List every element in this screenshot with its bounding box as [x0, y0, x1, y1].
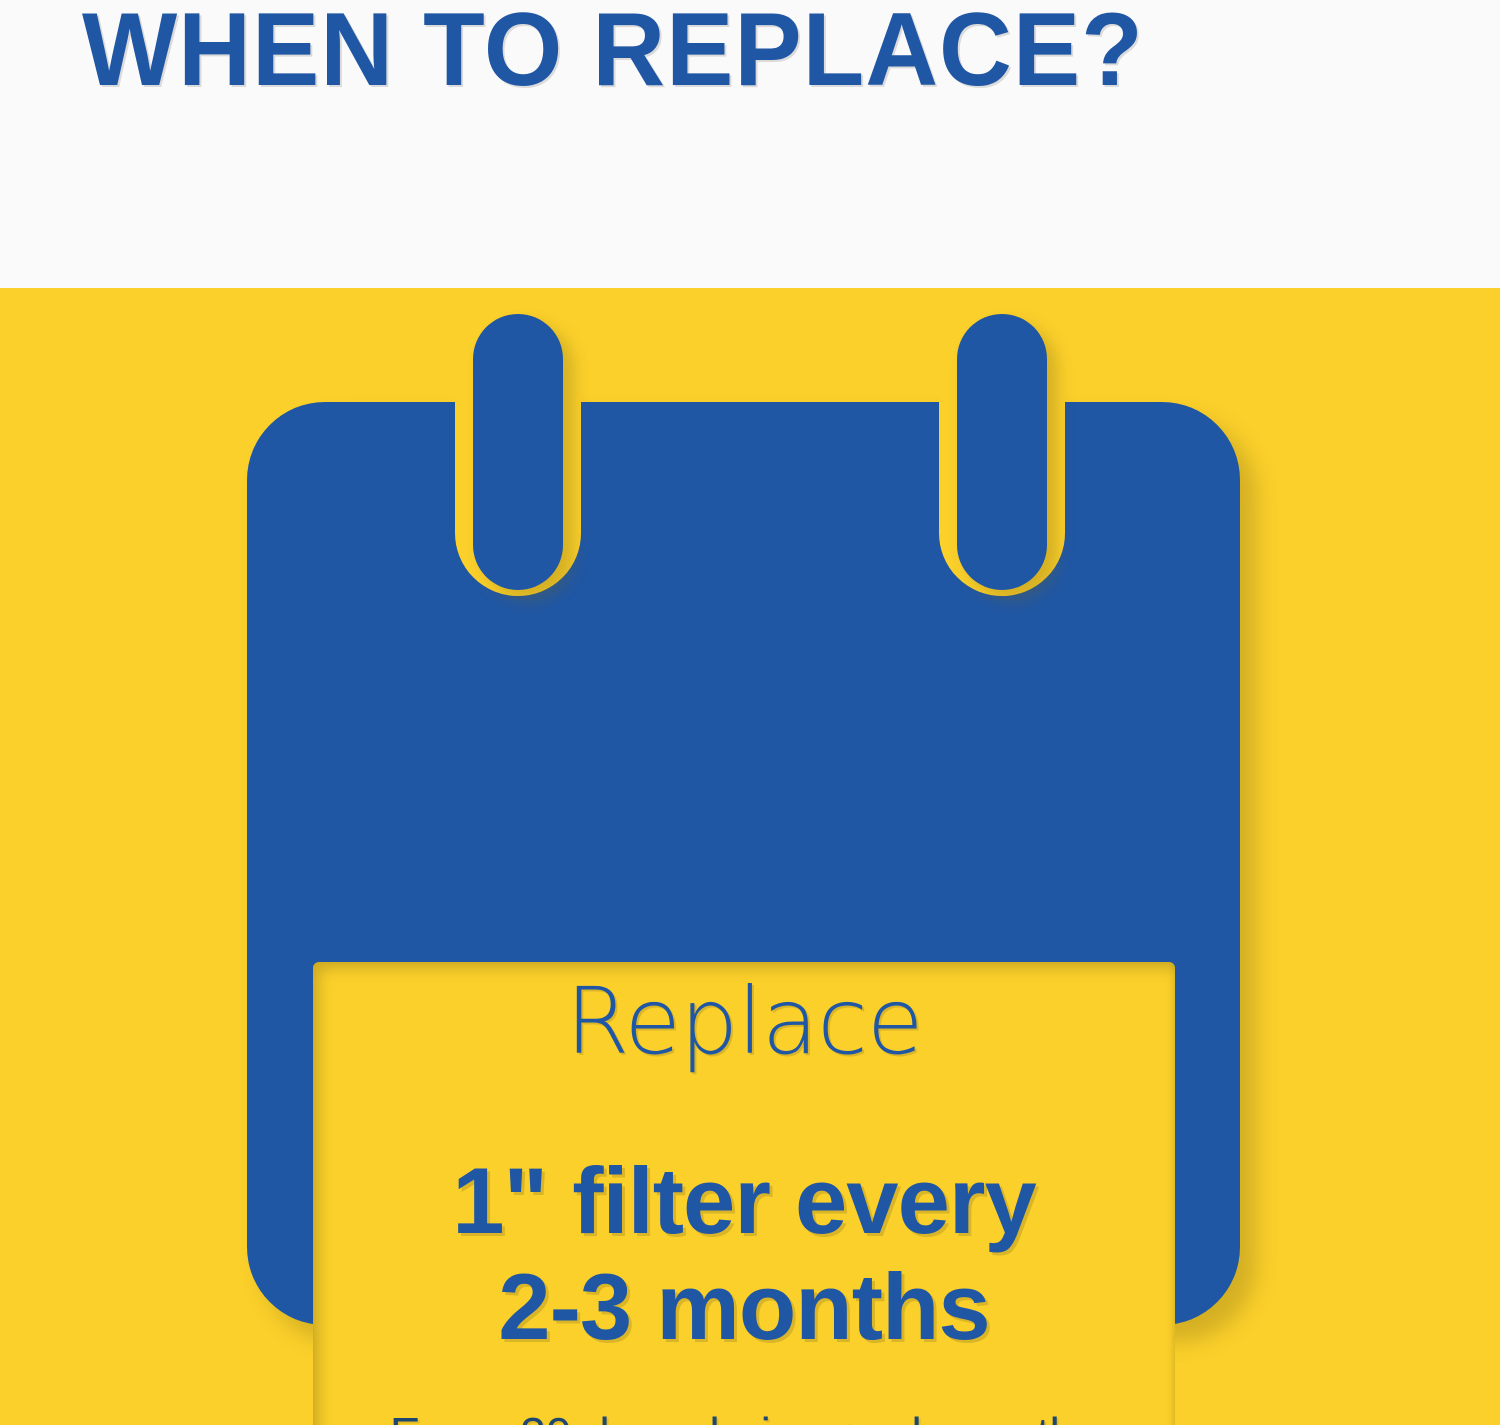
calendar-ring-left [473, 314, 563, 590]
page-title: WHEN TO REPLACE? [82, 0, 1246, 106]
header-band: WHEN TO REPLACE? [0, 0, 1500, 288]
replace-interval-headline: 1" filter every 2-3 months [313, 1148, 1175, 1360]
replace-footnote-wrap: Every 30 days during peak months [313, 1406, 1175, 1425]
when-to-replace-poster: WHEN TO REPLACE? Replace 1" filter every… [0, 0, 1500, 1425]
yellow-stage: Replace 1" filter every 2-3 months Every… [0, 288, 1500, 1425]
replace-interval-line-2: 2-3 months [313, 1254, 1175, 1360]
replace-interval-line-1: 1" filter every [313, 1148, 1175, 1254]
calendar-page: Replace 1" filter every 2-3 months Every… [313, 962, 1175, 1425]
replace-eyebrow-label: Replace [313, 972, 1175, 1072]
calendar-ring-right [957, 314, 1047, 590]
replace-footnote: Every 30 days during peak months [390, 1406, 1098, 1425]
calendar-page-inner: Replace 1" filter every 2-3 months Every… [313, 962, 1175, 1425]
